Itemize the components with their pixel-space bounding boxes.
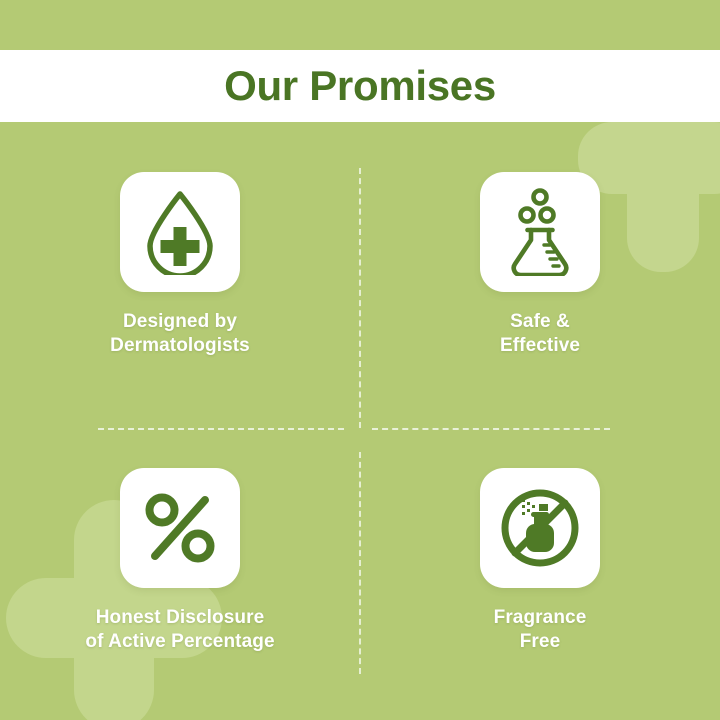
promises-grid: Designed by Dermatologists: [0, 122, 720, 720]
promise-label: Safe & Effective: [500, 310, 580, 358]
promises-poster: Our Promises Designed by Dermatologists: [0, 0, 720, 720]
promise-item-designed-by-dermatologists: Designed by Dermatologists: [0, 122, 360, 421]
promise-icon-card: [120, 468, 240, 588]
promise-label: Honest Disclosure of Active Percentage: [85, 606, 274, 654]
promise-label: Fragrance Free: [494, 606, 587, 654]
promise-item-safe-and-effective: Safe & Effective: [360, 122, 720, 421]
promise-label: Designed by Dermatologists: [110, 310, 250, 358]
promise-icon-card: [120, 172, 240, 292]
no-fragrance-icon: [498, 486, 582, 570]
promise-item-honest-disclosure: Honest Disclosure of Active Percentage: [0, 421, 360, 720]
header-band: Our Promises: [0, 50, 720, 122]
percent-icon: [143, 491, 217, 565]
promise-icon-card: [480, 172, 600, 292]
flask-icon: [502, 188, 578, 276]
droplet-plus-icon: [141, 189, 219, 275]
promise-icon-card: [480, 468, 600, 588]
page-title: Our Promises: [224, 65, 496, 107]
promise-item-fragrance-free: Fragrance Free: [360, 421, 720, 720]
